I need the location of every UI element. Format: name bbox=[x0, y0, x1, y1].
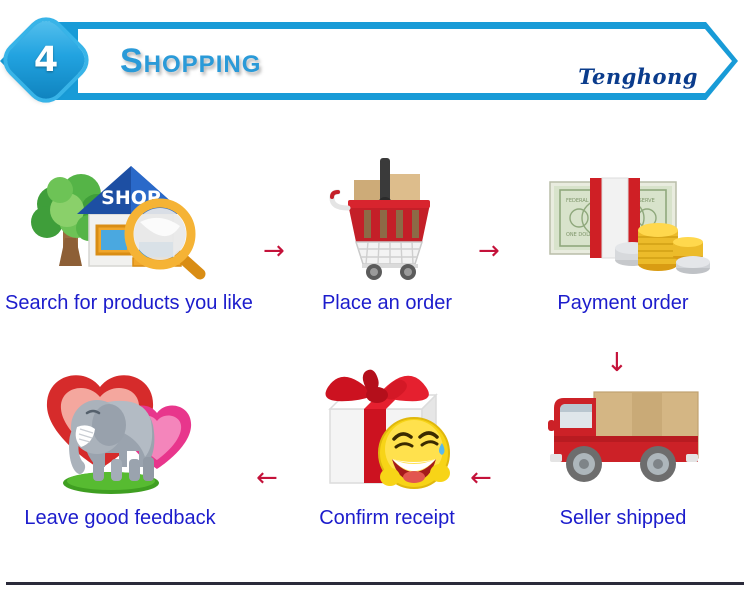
delivery-truck-icon bbox=[508, 365, 738, 495]
shop-storefront-magnifier-icon: SHOP bbox=[5, 150, 235, 280]
arrow-right-icon: → bbox=[478, 238, 500, 264]
process-steps: SHOP Search for products you like → bbox=[0, 150, 750, 580]
step-number-label: 4 bbox=[14, 28, 78, 92]
step-leave-feedback[interactable]: Leave good feedback bbox=[5, 365, 235, 530]
shopping-cart-icon bbox=[272, 150, 502, 280]
step-caption: Search for products you like bbox=[5, 292, 235, 315]
step-caption: Leave good feedback bbox=[5, 507, 235, 530]
gift-box-laughing-emoji-icon bbox=[272, 365, 502, 495]
step-confirm-receipt[interactable]: Confirm receipt bbox=[272, 365, 502, 530]
page-header-banner: 4 Shopping Tenghong bbox=[0, 0, 750, 120]
step-caption: Confirm receipt bbox=[272, 507, 502, 530]
page-title: Shopping bbox=[120, 42, 261, 81]
step-search-products[interactable]: SHOP Search for products you like bbox=[5, 150, 235, 315]
arrow-left-icon: ← bbox=[470, 465, 492, 491]
step-place-order[interactable]: Place an order bbox=[272, 150, 502, 315]
money-cash-coins-icon: FEDERAL RESERVE ONE DOLLAR ONE DOLLAR bbox=[508, 150, 738, 280]
step-seller-shipped[interactable]: Seller shipped bbox=[508, 365, 738, 530]
steps-row-bottom: Leave good feedback ← bbox=[0, 365, 750, 580]
step-caption: Place an order bbox=[272, 292, 502, 315]
bottom-divider bbox=[6, 582, 744, 585]
elephant-hearts-feedback-icon bbox=[5, 365, 235, 495]
step-caption: Seller shipped bbox=[508, 507, 738, 530]
step-caption: Payment order bbox=[508, 292, 738, 315]
svg-text:FEDERAL: FEDERAL bbox=[566, 198, 589, 204]
step-payment-order[interactable]: FEDERAL RESERVE ONE DOLLAR ONE DOLLAR bbox=[508, 150, 738, 315]
brand-logo-text: Tenghong bbox=[578, 64, 698, 89]
steps-row-top: SHOP Search for products you like → bbox=[0, 150, 750, 365]
